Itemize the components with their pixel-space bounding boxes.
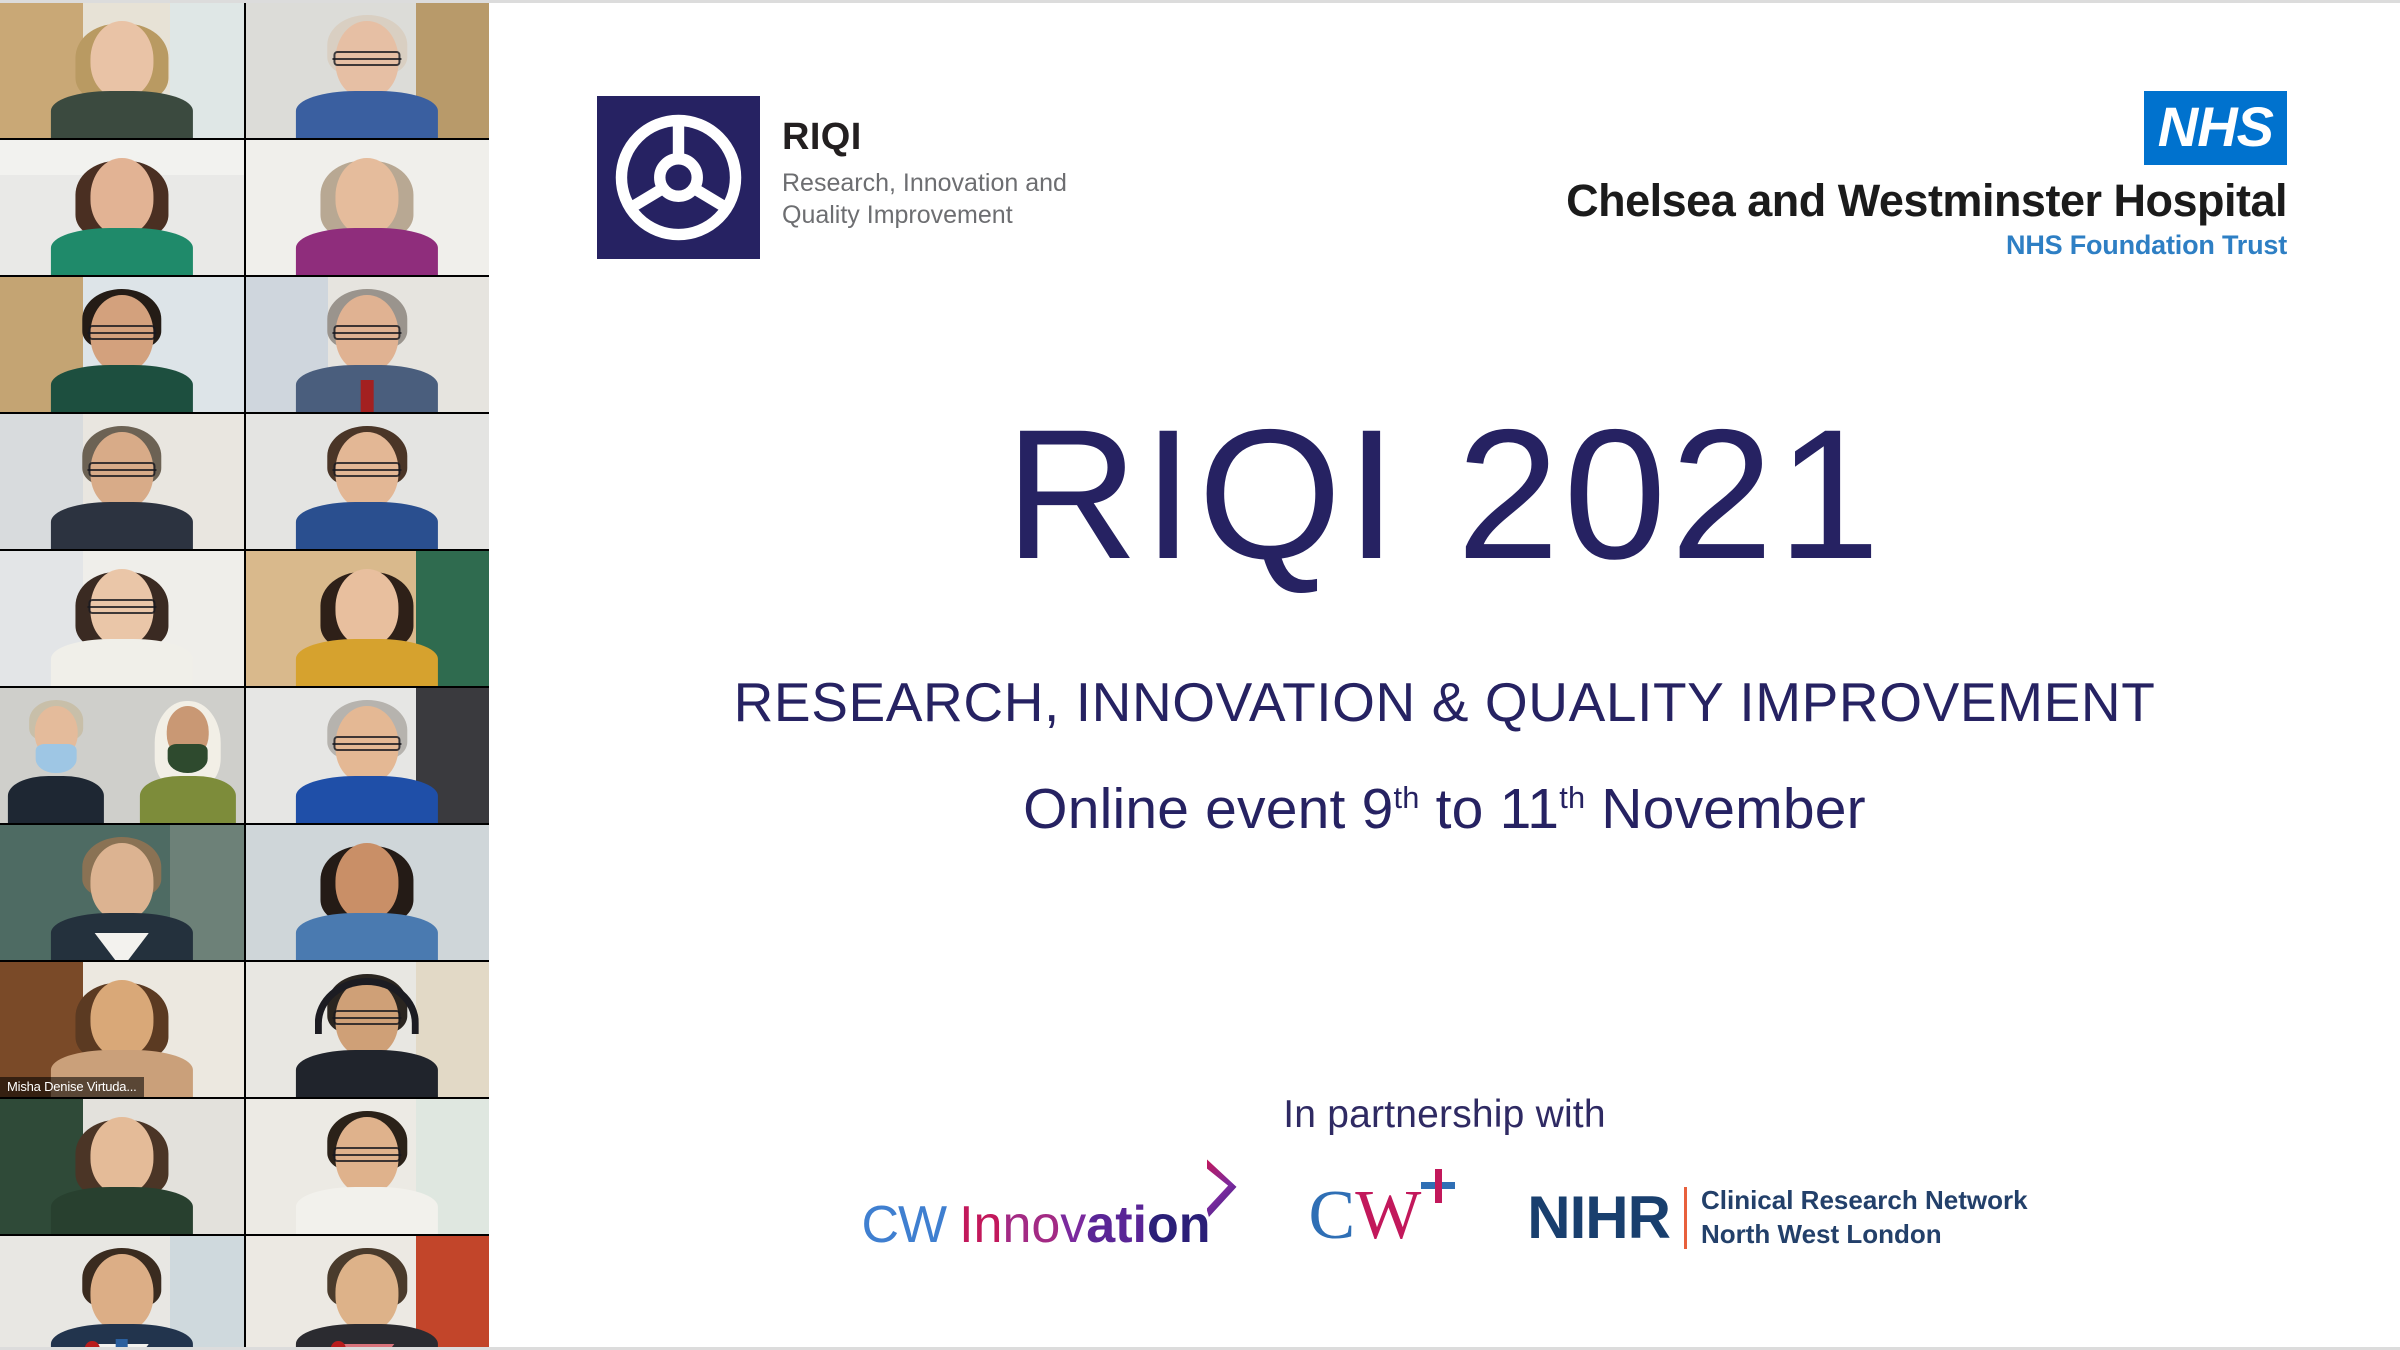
video-feed (0, 551, 244, 686)
cw-innovation-part5: on (1147, 1199, 1211, 1251)
cw-innovation-cw: CW (861, 1199, 946, 1251)
participant-tile[interactable] (246, 551, 490, 686)
slide-title: RIQI 2021 (489, 403, 2400, 588)
participant-tile[interactable] (0, 3, 244, 138)
video-feed (246, 825, 490, 960)
video-feed (0, 1099, 244, 1234)
shared-slide: RIQI Research, Innovation and Quality Im… (489, 3, 2400, 1347)
slide-event-dates: Online event 9th to 11th November (489, 777, 2400, 843)
nihr-desc-line1: Clinical Research Network (1701, 1184, 2028, 1217)
participant-tile[interactable] (0, 1099, 244, 1234)
nihr-description: Clinical Research Network North West Lon… (1701, 1184, 2028, 1251)
cw-plus-c: C (1309, 1177, 1356, 1254)
participant-tile[interactable] (246, 825, 490, 960)
event-prefix: Online event 9 (1023, 777, 1393, 841)
riqi-tagline-line2: Quality Improvement (782, 199, 1067, 231)
participant-tile[interactable] (0, 414, 244, 549)
participant-tile[interactable]: Misha Denise Virtuda... (0, 962, 244, 1097)
riqi-wordmark-group: RIQI Research, Innovation and Quality Im… (782, 96, 1067, 231)
poppy-icon (330, 1341, 345, 1350)
participant-tile[interactable] (246, 962, 490, 1097)
screen-share-view: Misha Denise Virtuda... (0, 0, 2400, 1350)
nihr-logo: NIHR Clinical Research Network North Wes… (1527, 1184, 2027, 1251)
partner-logo-row: CW In no v ati on CW NIHR (489, 1181, 2400, 1251)
event-suffix: November (1585, 777, 1866, 841)
video-feed (246, 3, 490, 138)
participant-tile[interactable] (246, 3, 490, 138)
participant-tile[interactable] (0, 277, 244, 412)
riqi-wheel-icon (597, 96, 760, 259)
participant-tile[interactable] (0, 1236, 244, 1350)
participant-tile[interactable] (246, 1099, 490, 1234)
partnership-block: In partnership with CW In no v ati on CW (489, 1093, 2400, 1251)
cw-plus-logo: CW (1309, 1181, 1456, 1251)
nihr-desc-line2: North West London (1701, 1218, 2028, 1251)
nhs-trust-logo-lockup: NHS Chelsea and Westminster Hospital NHS… (1566, 91, 2287, 261)
participant-tile[interactable] (246, 140, 490, 275)
nihr-wordmark: NIHR (1527, 1188, 1670, 1248)
riqi-tagline: Research, Innovation and Quality Improve… (782, 167, 1067, 231)
event-ordinal-2: th (1559, 780, 1585, 815)
video-feed (246, 277, 490, 412)
participant-name-label: Misha Denise Virtuda... (0, 1077, 144, 1097)
nihr-divider (1684, 1187, 1687, 1249)
event-middle: to 11 (1420, 777, 1560, 841)
cw-innovation-part4: ati (1086, 1199, 1147, 1251)
headset-icon (315, 978, 419, 1035)
slide-headline-block: RIQI 2021 RESEARCH, INNOVATION & QUALITY… (489, 403, 2400, 842)
video-feed (0, 277, 244, 412)
video-feed (0, 140, 244, 275)
participant-tile[interactable] (0, 688, 244, 823)
video-feed (0, 688, 244, 823)
cw-innovation-part3: v (1060, 1199, 1086, 1251)
video-feed (0, 414, 244, 549)
trust-name: Chelsea and Westminster Hospital (1566, 177, 2287, 224)
video-feed (246, 688, 490, 823)
video-feed (246, 551, 490, 686)
poppy-icon (85, 1341, 100, 1350)
participant-tile[interactable] (246, 688, 490, 823)
event-ordinal-1: th (1394, 780, 1420, 815)
video-feed (0, 1236, 244, 1350)
plus-icon (1421, 1169, 1455, 1203)
cw-innovation-part2: no (1002, 1199, 1060, 1251)
slide-subtitle: RESEARCH, INNOVATION & QUALITY IMPROVEME… (489, 672, 2400, 733)
partnership-label: In partnership with (489, 1093, 2400, 1137)
video-feed (0, 825, 244, 960)
cw-plus-w: W (1355, 1177, 1421, 1254)
participant-tile[interactable] (246, 1236, 490, 1350)
video-feed (246, 140, 490, 275)
riqi-wordmark: RIQI (782, 118, 1067, 158)
participant-tile[interactable] (0, 551, 244, 686)
participant-tile[interactable] (246, 414, 490, 549)
video-feed (246, 1099, 490, 1234)
video-feed (246, 962, 490, 1097)
participant-gallery-strip[interactable]: Misha Denise Virtuda... (0, 3, 489, 1350)
participant-tile[interactable] (0, 825, 244, 960)
nhs-logo: NHS (2144, 91, 2287, 165)
video-feed (0, 3, 244, 138)
video-feed (246, 414, 490, 549)
trust-subtitle: NHS Foundation Trust (1566, 230, 2287, 261)
cw-innovation-logo: CW In no v ati on (861, 1199, 1236, 1251)
riqi-tagline-line1: Research, Innovation and (782, 167, 1067, 199)
cw-innovation-part1: In (959, 1199, 1002, 1251)
chevron-arrow-icon (1207, 1159, 1237, 1217)
participant-tile[interactable] (246, 277, 490, 412)
participant-tile[interactable] (0, 140, 244, 275)
video-feed (246, 1236, 490, 1350)
riqi-logo-lockup: RIQI Research, Innovation and Quality Im… (597, 96, 1067, 259)
